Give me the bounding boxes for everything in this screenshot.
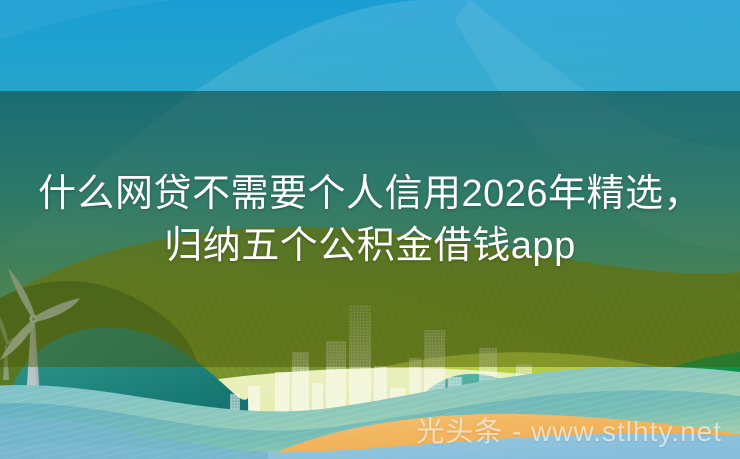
page-title: 什么网贷不需要个人信用2026年精选， 归纳五个公积金借钱app — [0, 168, 740, 272]
article-cover-banner: 什么网贷不需要个人信用2026年精选， 归纳五个公积金借钱app 光头条 - w… — [0, 0, 740, 459]
site-watermark: 光头条 - www.stlhty.net — [416, 415, 722, 449]
